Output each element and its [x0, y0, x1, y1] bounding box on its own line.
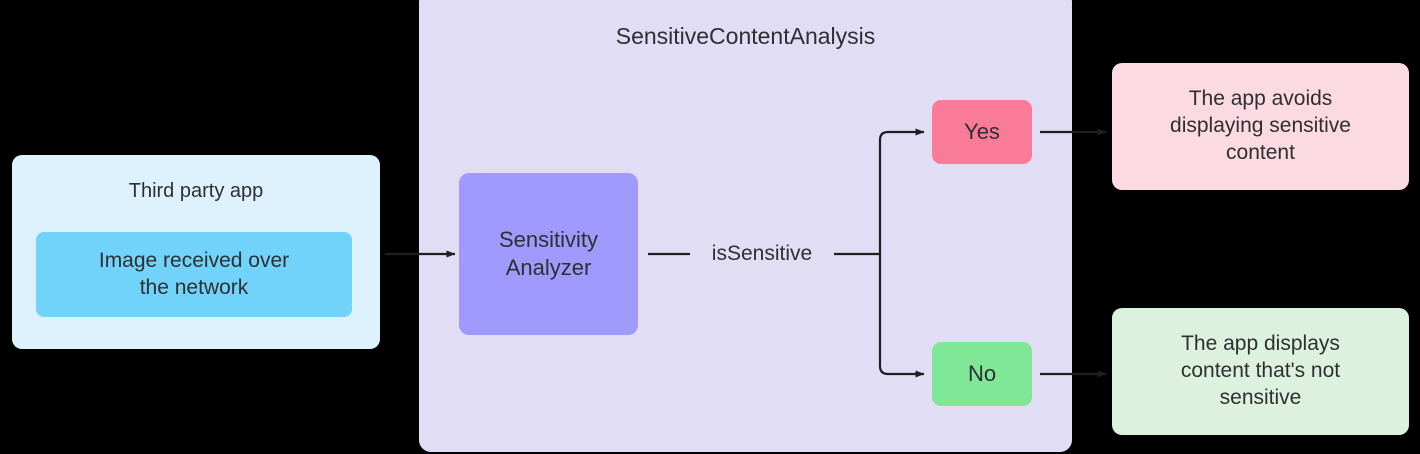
edge-label-is-sensitive: isSensitive [694, 238, 830, 270]
node-display-non-sensitive-content: The app displays content that's not sens… [1112, 308, 1409, 435]
container-title: SensitiveContentAnalysis [419, 22, 1072, 51]
node-no: No [932, 342, 1032, 406]
group-third-party-app-label: Third party app [12, 179, 380, 205]
flowchart-diagram: Third party app Image received over the … [0, 0, 1420, 454]
node-avoid-sensitive-content: The app avoids displaying sensitive cont… [1112, 63, 1409, 190]
node-sensitivity-analyzer: Sensitivity Analyzer [459, 173, 638, 335]
node-network-image: Image received over the network [36, 232, 352, 317]
node-yes: Yes [932, 100, 1032, 164]
